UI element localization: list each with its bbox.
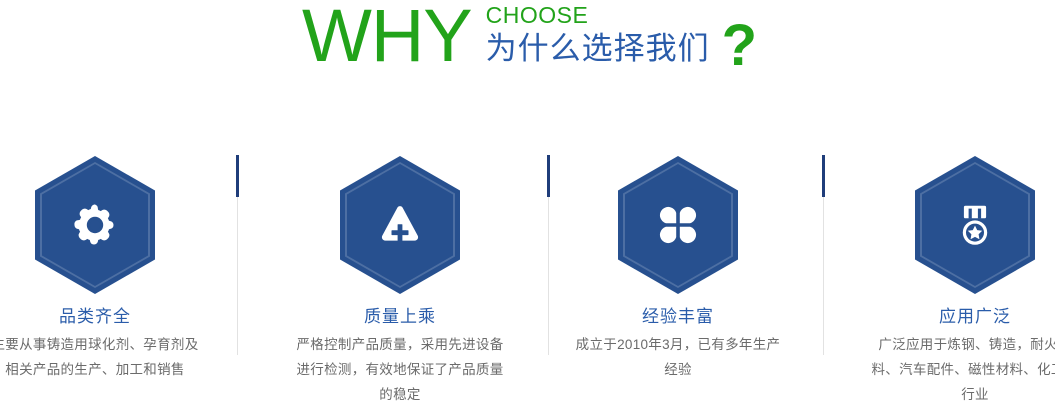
feature-cards-row: 品类齐全 主要从事铸造用球化剂、孕育剂及相关产品的生产、加工和销售 质量上乘 严… (0, 150, 1055, 416)
headline-why: WHY (302, 0, 472, 72)
headline-chinese: 为什么选择我们 (486, 30, 710, 68)
feature-card[interactable]: 经验丰富 成立于2010年3月，已有多年生产经验 (558, 150, 798, 382)
card-description: 成立于2010年3月，已有多年生产经验 (558, 332, 798, 382)
card-title: 经验丰富 (558, 306, 798, 328)
feature-card[interactable]: 质量上乘 严格控制产品质量，采用先进设备进行检测，有效地保证了产品质量的稳定 (280, 150, 520, 407)
hexagon-badge (855, 150, 1055, 300)
clover-icon (652, 199, 704, 251)
hexagon-shape (35, 156, 155, 294)
card-description: 主要从事铸造用球化剂、孕育剂及相关产品的生产、加工和销售 (0, 332, 215, 382)
gear-icon (69, 199, 121, 251)
hexagon-badge (558, 150, 798, 300)
card-description: 严格控制产品质量，采用先进设备进行检测，有效地保证了产品质量的稳定 (280, 332, 520, 407)
section-header: WHY CHOOSE 为什么选择我们 ? (0, 0, 1055, 100)
medal-icon (949, 199, 1001, 251)
hexagon-shape (340, 156, 460, 294)
question-mark-icon: ? (722, 17, 757, 75)
feature-card[interactable]: 应用广泛 广泛应用于炼钢、铸造，耐火材料、汽车配件、磁性材料、化工等行业 (855, 150, 1055, 407)
card-description: 广泛应用于炼钢、铸造，耐火材料、汽车配件、磁性材料、化工等行业 (855, 332, 1055, 407)
header-title-group: WHY CHOOSE 为什么选择我们 ? (302, 0, 757, 75)
hexagon-shape (618, 156, 738, 294)
card-title: 质量上乘 (280, 306, 520, 328)
hexagon-badge (0, 150, 215, 300)
headline-choose: CHOOSE (486, 2, 710, 28)
card-title: 品类齐全 (0, 306, 215, 328)
headline-subgroup: CHOOSE 为什么选择我们 (486, 2, 710, 68)
hexagon-badge (280, 150, 520, 300)
feature-card[interactable]: 品类齐全 主要从事铸造用球化剂、孕育剂及相关产品的生产、加工和销售 (0, 150, 215, 382)
card-title: 应用广泛 (855, 306, 1055, 328)
triangle-plus-icon (374, 199, 426, 251)
hexagon-shape (915, 156, 1035, 294)
